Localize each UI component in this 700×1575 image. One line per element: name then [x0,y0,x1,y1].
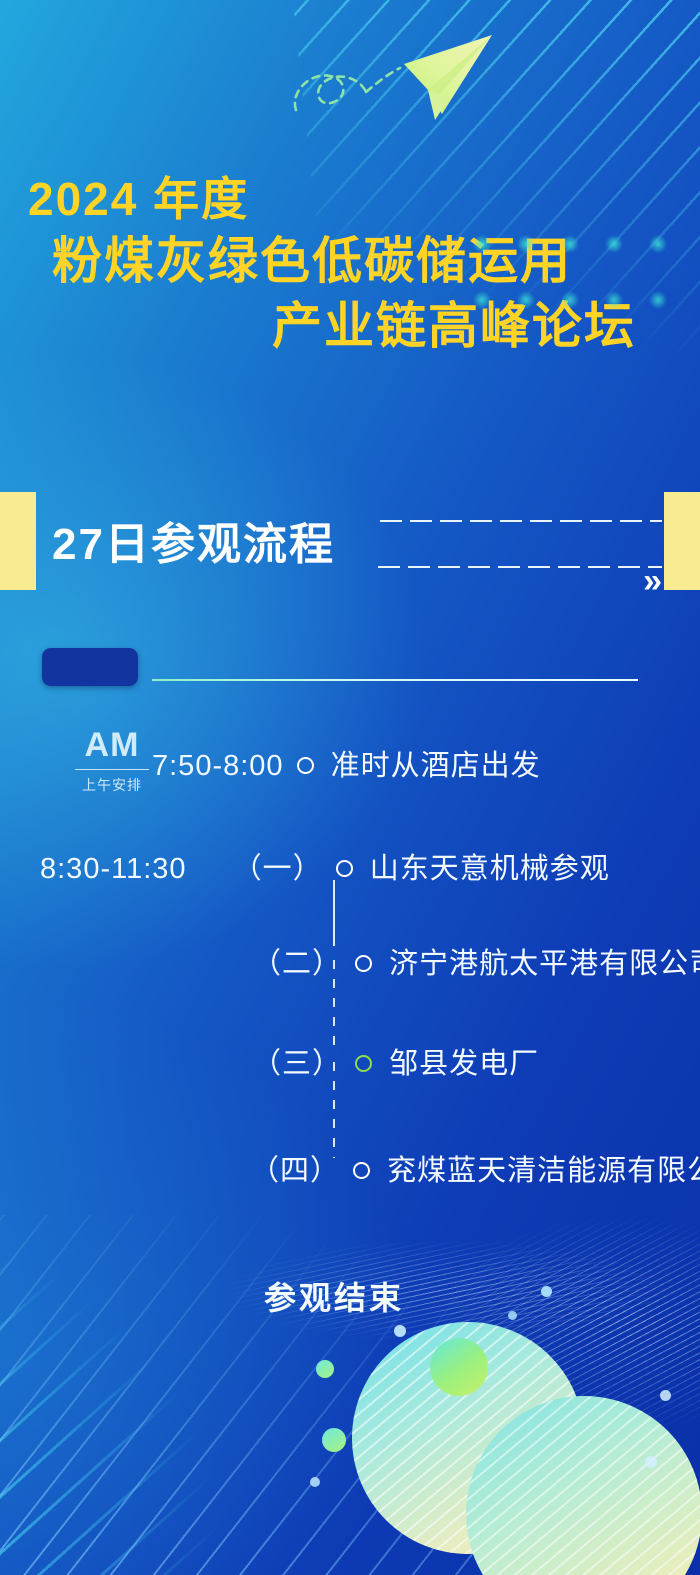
accent-dot [660,1390,671,1401]
schedule-row: （四） 兖煤蓝天清洁能源有限公司 [250,1147,700,1189]
schedule-text: 济宁港航太平港有限公司 [389,948,700,980]
end-text: 参观结束 [264,1273,404,1319]
circle-marker-icon [297,757,314,774]
schedule-index: （四） [250,1155,340,1187]
gradient-circle-small [430,1338,488,1396]
schedule-row: 7:50-8:00 准时从酒店出发 [152,742,541,784]
timeline-connector-solid [333,880,335,946]
schedule-list: 7:50-8:00 准时从酒店出发 8:30-11:30 （一） 山东天意机械参… [0,0,700,1575]
accent-dot [310,1477,320,1487]
accent-dot [541,1286,552,1297]
accent-dot [322,1428,346,1452]
schedule-text: 准时从酒店出发 [331,750,541,782]
accent-dot [508,1311,517,1320]
schedule-time: 8:30-11:30 [40,853,187,885]
circle-marker-icon [355,955,372,972]
schedule-time: 7:50-8:00 [152,750,284,782]
circle-marker-icon [336,860,353,877]
schedule-row: 8:30-11:30 （一） 山东天意机械参观 [40,845,610,887]
accent-dot [645,1456,657,1468]
schedule-index: （二） [252,948,342,980]
schedule-row: （二） 济宁港航太平港有限公司 [252,940,700,982]
accent-dot [394,1325,406,1337]
schedule-text: 邹县发电厂 [389,1048,539,1080]
circle-marker-icon [355,1055,372,1072]
schedule-text: 山东天意机械参观 [370,853,610,885]
circle-marker-icon [353,1162,370,1179]
schedule-index: （一） [233,853,323,885]
schedule-index: （三） [252,1048,342,1080]
accent-dot [316,1360,334,1378]
schedule-row: （三） 邹县发电厂 [252,1040,539,1082]
schedule-text: 兖煤蓝天清洁能源有限公司 [387,1155,700,1187]
poster-root: 2024 年度 粉煤灰绿色低碳储运用 产业链高峰论坛 27日参观流程 » AM … [0,0,700,1575]
